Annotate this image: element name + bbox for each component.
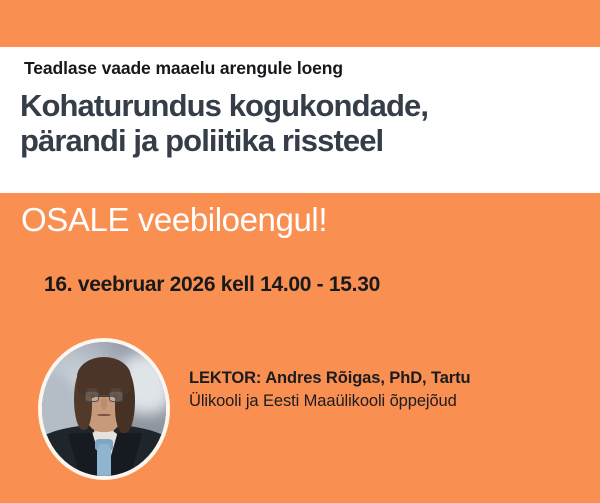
headline-line-1: Kohaturundus kogukondade, bbox=[20, 88, 428, 123]
lecturer-name-line: LEKTOR: Andres Rõigas, PhD, Tartu bbox=[189, 369, 471, 387]
header-white-band: Teadlase vaade maaelu arengule loeng Koh… bbox=[0, 47, 600, 193]
lecturer-portrait-photo bbox=[42, 342, 166, 476]
lecturer-affiliation-line: Ülikooli ja Eesti Maaülikooli õppejõud bbox=[189, 390, 566, 413]
headline-line-2: pärandi ja poliitika rissteel bbox=[20, 123, 580, 158]
event-datetime: 16. veebruar 2026 kell 14.00 - 15.30 bbox=[44, 273, 380, 297]
glasses-lens-left-icon bbox=[85, 391, 99, 402]
portrait-mouth bbox=[97, 414, 112, 416]
glasses-bridge-icon bbox=[99, 395, 109, 396]
portrait-ring bbox=[38, 338, 170, 480]
portrait-hair-top bbox=[77, 357, 132, 397]
portrait-tie bbox=[97, 444, 111, 476]
cta-participate-online: OSALE veebiloengul! bbox=[21, 201, 327, 239]
glasses-lens-right-icon bbox=[109, 391, 123, 402]
lecturer-credit: LEKTOR: Andres Rõigas, PhD, Tartu Ülikoo… bbox=[189, 367, 566, 414]
poster-headline: Kohaturundus kogukondade, pärandi ja pol… bbox=[20, 88, 580, 158]
poster-kicker: Teadlase vaade maaelu arengule loeng bbox=[24, 58, 343, 79]
lecture-announcement-poster: Teadlase vaade maaelu arengule loeng Koh… bbox=[0, 0, 600, 503]
